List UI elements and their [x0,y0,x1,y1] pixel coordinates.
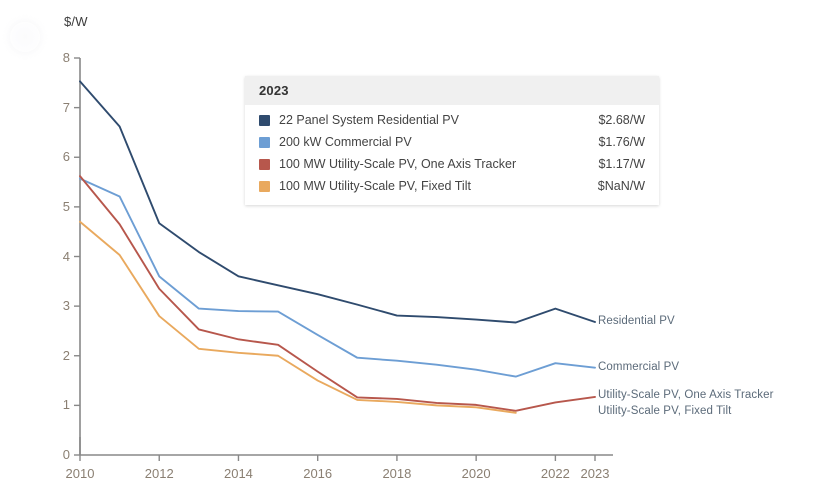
y-tick-4: 4 [52,249,70,264]
x-tick-2018: 2018 [367,466,427,481]
x-tick-2012: 2012 [129,466,189,481]
chart-tooltip[interactable]: 2023 22 Panel System Residential PV$2.68… [245,76,659,205]
tooltip-rows: 22 Panel System Residential PV$2.68/W200… [245,105,659,205]
tooltip-series-label: 22 Panel System Residential PV [279,113,582,127]
tooltip-series-value: $1.76/W [598,135,645,149]
y-tick-5: 5 [52,199,70,214]
tooltip-color-swatch-icon [259,181,270,192]
tooltip-series-value: $1.17/W [598,157,645,171]
y-tick-1: 1 [52,397,70,412]
x-tick-2020: 2020 [446,466,506,481]
tooltip-series-value: $NaN/W [598,179,645,193]
tooltip-row: 100 MW Utility-Scale PV, Fixed Tilt$NaN/… [259,175,645,197]
tooltip-row: 200 kW Commercial PV$1.76/W [259,131,645,153]
series-end-label-0: Residential PV [598,315,675,327]
series-end-label-3: Utility-Scale PV, Fixed Tilt [598,405,731,417]
tooltip-row: 100 MW Utility-Scale PV, One Axis Tracke… [259,153,645,175]
y-tick-3: 3 [52,298,70,313]
tooltip-color-swatch-icon [259,115,270,126]
x-tick-2014: 2014 [208,466,268,481]
y-tick-0: 0 [52,447,70,462]
series-end-label-2: Utility-Scale PV, One Axis Tracker [598,389,774,401]
tooltip-row: 22 Panel System Residential PV$2.68/W [259,109,645,131]
x-tick-2016: 2016 [288,466,348,481]
tooltip-color-swatch-icon [259,159,270,170]
y-tick-6: 6 [52,149,70,164]
x-tick-2010: 2010 [50,466,110,481]
tooltip-series-label: 200 kW Commercial PV [279,135,582,149]
x-tick-2023: 2023 [565,466,625,481]
y-tick-8: 8 [52,50,70,65]
y-tick-2: 2 [52,348,70,363]
y-tick-7: 7 [52,100,70,115]
tooltip-color-swatch-icon [259,137,270,148]
tooltip-series-value: $2.68/W [598,113,645,127]
series-end-label-1: Commercial PV [598,361,679,373]
tooltip-series-label: 100 MW Utility-Scale PV, One Axis Tracke… [279,157,582,171]
solar-cost-line-chart: $/W 012345678 20102012201420162018202020… [0,0,828,501]
tooltip-series-label: 100 MW Utility-Scale PV, Fixed Tilt [279,179,582,193]
tooltip-header-year: 2023 [245,76,659,105]
series-line-1[interactable] [80,179,595,377]
